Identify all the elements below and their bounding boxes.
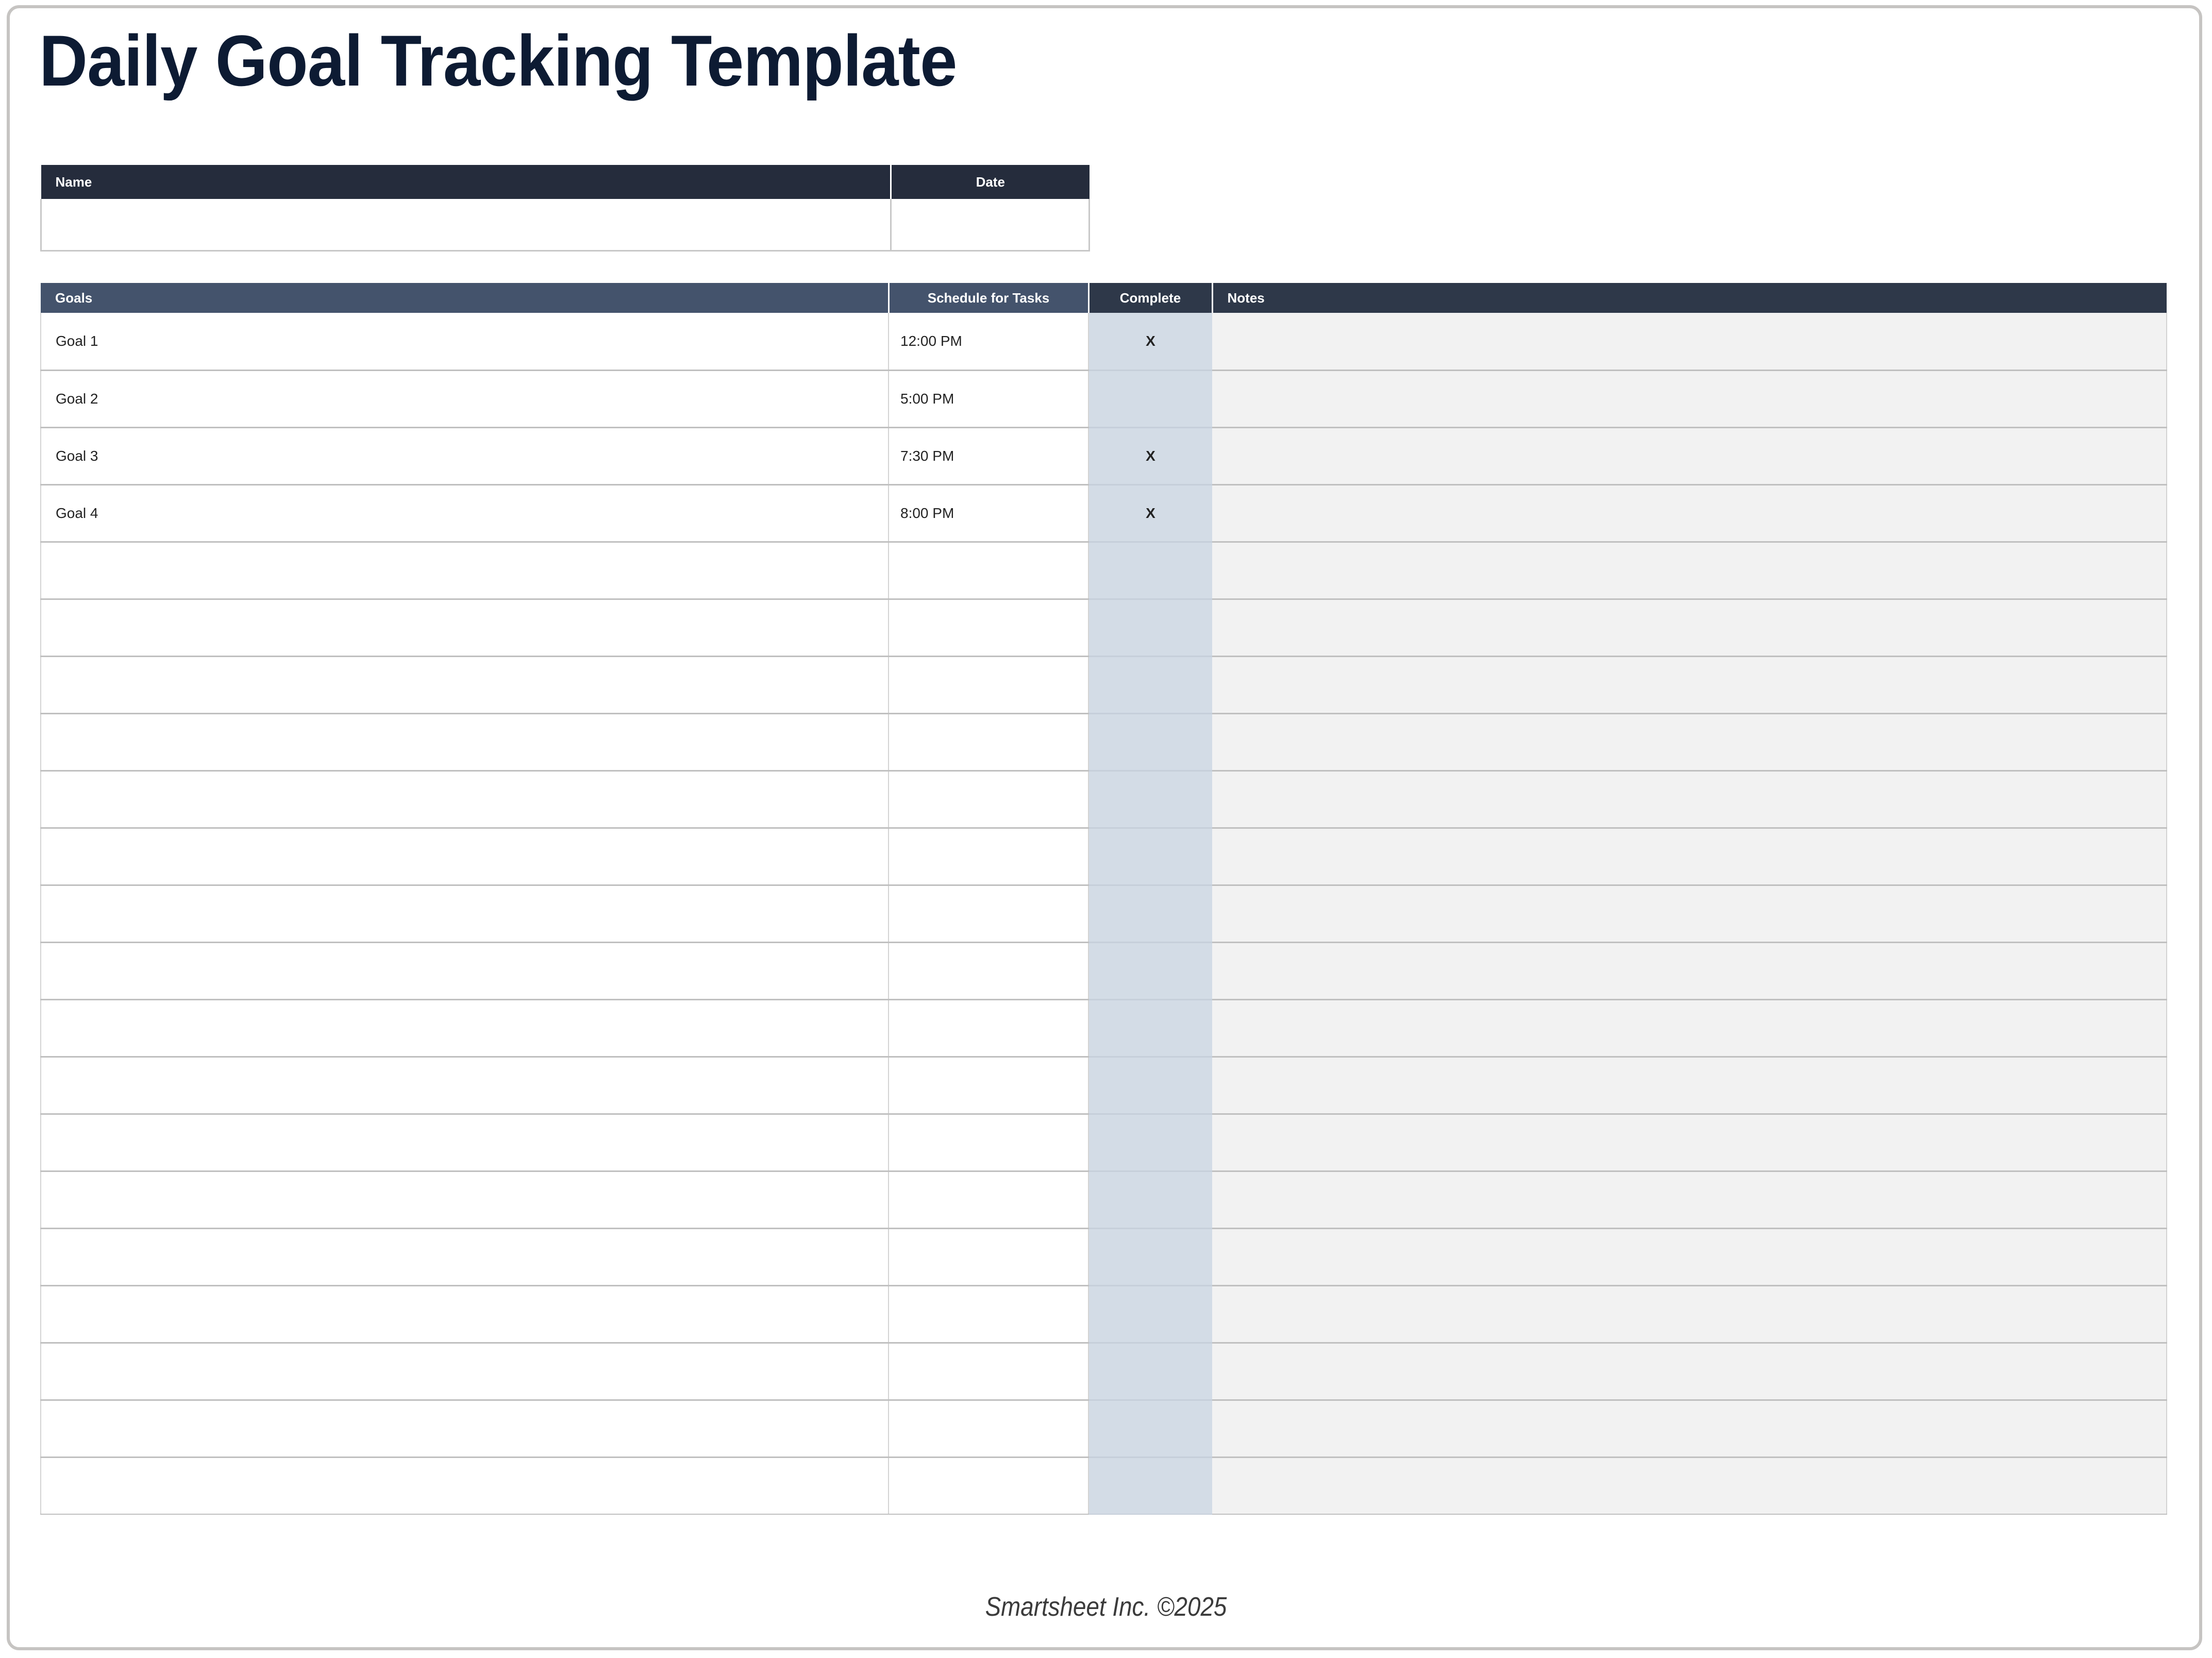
complete-cell[interactable]	[1088, 828, 1212, 885]
notes-cell[interactable]	[1212, 771, 2167, 828]
goals-table: Goals Schedule for Tasks Complete Notes …	[40, 283, 2167, 1515]
goal-cell[interactable]	[41, 656, 889, 713]
table-row	[41, 1457, 2167, 1514]
goal-cell[interactable]	[41, 1514, 889, 1515]
notes-cell[interactable]	[1212, 1400, 2167, 1457]
complete-cell[interactable]	[1088, 1228, 1212, 1285]
goal-cell[interactable]	[41, 1400, 889, 1457]
table-row	[41, 656, 2167, 713]
goal-cell[interactable]	[41, 1343, 889, 1400]
goal-cell[interactable]	[41, 771, 889, 828]
schedule-cell[interactable]	[889, 1228, 1088, 1285]
complete-cell[interactable]	[1088, 1285, 1212, 1343]
goal-cell[interactable]	[41, 1228, 889, 1285]
complete-cell[interactable]	[1088, 1400, 1212, 1457]
goal-cell[interactable]	[41, 1114, 889, 1171]
table-row	[41, 713, 2167, 771]
goal-cell[interactable]	[41, 542, 889, 599]
table-row: Goal 48:00 PMX	[41, 484, 2167, 542]
schedule-cell[interactable]: 12:00 PM	[889, 313, 1088, 370]
complete-cell[interactable]	[1088, 1343, 1212, 1400]
table-row	[41, 885, 2167, 942]
notes-cell[interactable]	[1212, 542, 2167, 599]
table-row	[41, 1057, 2167, 1114]
notes-cell[interactable]	[1212, 599, 2167, 656]
schedule-cell[interactable]	[889, 771, 1088, 828]
goal-cell[interactable]	[41, 1285, 889, 1343]
notes-cell[interactable]	[1212, 1228, 2167, 1285]
footer-credit: Smartsheet Inc. ©2025	[133, 1592, 2080, 1622]
table-row	[41, 828, 2167, 885]
schedule-cell[interactable]	[889, 713, 1088, 771]
notes-cell[interactable]	[1212, 885, 2167, 942]
schedule-cell[interactable]	[889, 599, 1088, 656]
notes-cell[interactable]	[1212, 713, 2167, 771]
table-row: Goal 25:00 PM	[41, 370, 2167, 427]
schedule-cell[interactable]	[889, 1285, 1088, 1343]
schedule-cell[interactable]: 5:00 PM	[889, 370, 1088, 427]
complete-cell[interactable]	[1088, 942, 1212, 999]
complete-cell[interactable]: X	[1088, 427, 1212, 484]
notes-cell[interactable]	[1212, 1285, 2167, 1343]
table-row	[41, 1343, 2167, 1400]
schedule-cell[interactable]	[889, 942, 1088, 999]
schedule-cell[interactable]	[889, 656, 1088, 713]
goal-cell[interactable]: Goal 3	[41, 427, 889, 484]
table-row	[41, 542, 2167, 599]
complete-cell[interactable]	[1088, 370, 1212, 427]
notes-cell[interactable]	[1212, 1343, 2167, 1400]
complete-cell[interactable]	[1088, 656, 1212, 713]
goal-cell[interactable]	[41, 885, 889, 942]
notes-cell[interactable]	[1212, 1457, 2167, 1514]
complete-cell[interactable]	[1088, 542, 1212, 599]
table-row	[41, 1171, 2167, 1228]
complete-cell[interactable]	[1088, 771, 1212, 828]
notes-cell[interactable]	[1212, 656, 2167, 713]
notes-cell[interactable]	[1212, 942, 2167, 999]
schedule-cell[interactable]	[889, 1400, 1088, 1457]
column-header-complete: Complete	[1088, 283, 1212, 313]
complete-cell[interactable]	[1088, 1057, 1212, 1114]
table-row: Goal 37:30 PMX	[41, 427, 2167, 484]
schedule-cell[interactable]	[889, 1514, 1088, 1515]
goal-cell[interactable]	[41, 1457, 889, 1514]
complete-cell[interactable]	[1088, 599, 1212, 656]
schedule-cell[interactable]: 7:30 PM	[889, 427, 1088, 484]
notes-cell[interactable]	[1212, 1114, 2167, 1171]
goal-cell[interactable]: Goal 1	[41, 313, 889, 370]
table-row	[41, 999, 2167, 1057]
table-row	[41, 1114, 2167, 1171]
complete-cell[interactable]	[1088, 1514, 1212, 1515]
complete-cell[interactable]	[1088, 999, 1212, 1057]
complete-cell[interactable]	[1088, 885, 1212, 942]
notes-cell[interactable]	[1212, 484, 2167, 542]
goals-header-row: Goals Schedule for Tasks Complete Notes	[41, 283, 2167, 313]
notes-cell[interactable]	[1212, 999, 2167, 1057]
goals-table-viewport: Goals Schedule for Tasks Complete Notes …	[0, 0, 2212, 1515]
schedule-cell[interactable]	[889, 828, 1088, 885]
schedule-cell[interactable]	[889, 1343, 1088, 1400]
complete-cell[interactable]	[1088, 1457, 1212, 1514]
goal-cell[interactable]	[41, 999, 889, 1057]
column-header-notes: Notes	[1212, 283, 2167, 313]
goal-cell[interactable]: Goal 2	[41, 370, 889, 427]
table-row	[41, 771, 2167, 828]
table-row: Goal 112:00 PMX	[41, 313, 2167, 370]
goals-table-body: Goal 112:00 PMXGoal 25:00 PMGoal 37:30 P…	[41, 313, 2167, 1515]
notes-cell[interactable]	[1212, 370, 2167, 427]
goal-cell[interactable]	[41, 1057, 889, 1114]
table-row	[41, 1400, 2167, 1457]
notes-cell[interactable]	[1212, 1171, 2167, 1228]
table-row	[41, 1285, 2167, 1343]
table-row	[41, 1228, 2167, 1285]
notes-cell[interactable]	[1212, 313, 2167, 370]
document-page: Daily Goal Tracking Template Name Date	[0, 0, 2212, 1658]
schedule-cell[interactable]	[889, 1457, 1088, 1514]
column-header-goals: Goals	[41, 283, 889, 313]
goal-cell[interactable]: Goal 4	[41, 484, 889, 542]
goal-cell[interactable]	[41, 942, 889, 999]
notes-cell[interactable]	[1212, 1514, 2167, 1515]
goal-cell[interactable]	[41, 599, 889, 656]
schedule-cell[interactable]	[889, 1114, 1088, 1171]
table-row	[41, 942, 2167, 999]
goal-cell[interactable]	[41, 828, 889, 885]
goal-cell[interactable]	[41, 713, 889, 771]
schedule-cell[interactable]	[889, 1057, 1088, 1114]
complete-cell[interactable]: X	[1088, 484, 1212, 542]
schedule-cell[interactable]	[889, 885, 1088, 942]
schedule-cell[interactable]	[889, 1171, 1088, 1228]
table-row	[41, 1514, 2167, 1515]
notes-cell[interactable]	[1212, 427, 2167, 484]
schedule-cell[interactable]	[889, 999, 1088, 1057]
complete-cell[interactable]	[1088, 1171, 1212, 1228]
column-header-schedule-for-tasks: Schedule for Tasks	[889, 283, 1088, 313]
schedule-cell[interactable]: 8:00 PM	[889, 484, 1088, 542]
complete-cell[interactable]: X	[1088, 313, 1212, 370]
schedule-cell[interactable]	[889, 542, 1088, 599]
notes-cell[interactable]	[1212, 828, 2167, 885]
notes-cell[interactable]	[1212, 1057, 2167, 1114]
complete-cell[interactable]	[1088, 1114, 1212, 1171]
goal-cell[interactable]	[41, 1171, 889, 1228]
complete-cell[interactable]	[1088, 713, 1212, 771]
table-row	[41, 599, 2167, 656]
